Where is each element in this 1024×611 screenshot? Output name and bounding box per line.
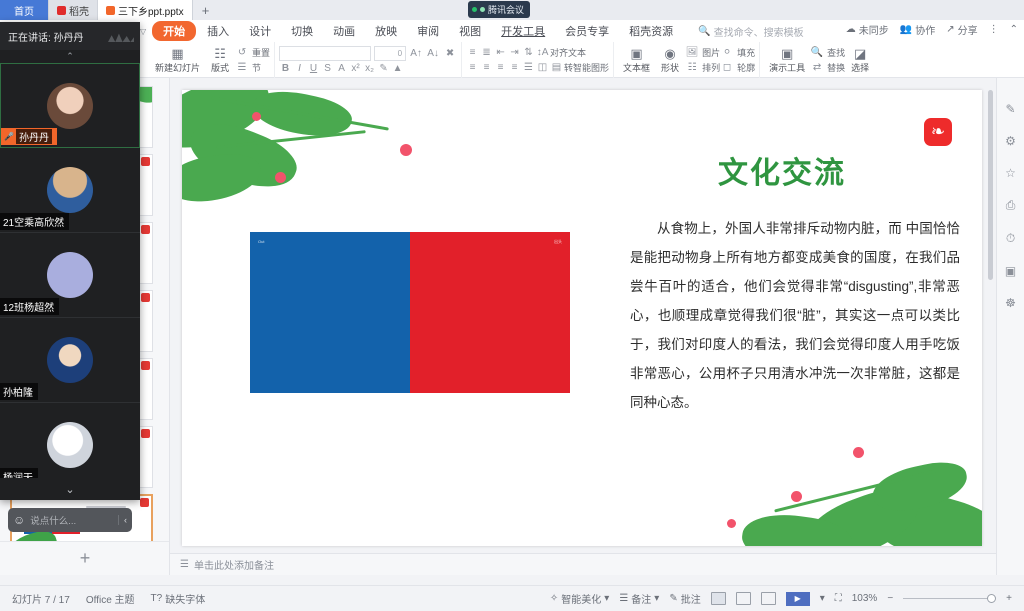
avatar [47,422,93,468]
participant-tile[interactable]: 12班杨超然 [0,233,140,318]
select-button[interactable]: ◪ 选择 [845,47,875,74]
ribbon-search[interactable]: 🔍 查找命令、搜索模板 [698,24,803,39]
slide-body-text[interactable]: 从食物上，外国人非常排斥动物内脏，而 中国恰恰是能把动物身上所有地方都变成美食的… [630,214,960,417]
note-icon: ☰ [619,593,628,604]
paragraph-row-1: ≡ ≣ ⇤ ⇥ ⇅ ↕A 对齐文本 [466,46,609,59]
replace-label: 替换 [827,61,845,74]
participant-name: 21空乘高欣然 [3,214,64,229]
copy-icon[interactable]: ⎙ [1006,198,1016,213]
align-right-button[interactable]: ≡ [494,62,507,73]
font-stack: 0 A↑ A↓ ✖ B I U S A x² x₂ ✎ ▲ [279,46,457,74]
chat-input-placeholder[interactable]: 说点什么... [30,513,113,527]
shape-icon: ◉ [664,47,675,60]
ribbon-right-actions: ☁ 未同步 👥 协作 ↗ 分享 ⋮ ⌃ [846,22,1018,37]
participant-name-chip: 21空乘高欣然 [0,213,69,230]
ribbon-tab-transition[interactable]: 切换 [282,21,322,41]
picture-icon: 🖼 [685,46,699,59]
thumbnail-logo-icon [141,293,150,302]
tab-presentation-label: 三下乡ppt.pptx [118,3,184,18]
current-speaker-bar: 正在讲话: 孙丹丹 [0,22,140,50]
participant-name-chip: 孙柏隆 [0,383,38,400]
fit-to-window-button[interactable]: ⛶ [835,593,842,604]
meeting-collapse-up-button[interactable]: ⌃ [0,50,140,63]
fill-outline-stack: ⚪ 填充 ◻ 轮廓 [720,46,755,74]
collaborate-label: 协作 [915,22,935,37]
berry-icon [853,447,864,458]
new-slide-icon: ▦ [171,47,183,60]
ribbon-collapse-caret-icon[interactable]: ▽ [140,27,146,36]
sliders-icon[interactable]: ⚙ [1005,134,1016,148]
share-label: 分享 [958,22,978,37]
ribbon-tab-row: ▽ 开始 插入 设计 切换 动画 放映 审阅 视图 开发工具 会员专享 稻壳资源… [0,20,1024,42]
section-button[interactable]: ☰ 节 [235,61,270,74]
font-format-row: B I U S A x² x₂ ✎ ▲ [279,63,457,74]
select-label: 选择 [851,61,869,74]
note-label: 备注 [631,591,651,606]
app-window: 首页 稻壳 三下乡ppt.pptx + 腾讯会议 ▽ 开始 插入 设计 切换 动… [0,0,1024,611]
group-slides: ▦ 新建幻灯片 ☷ 版式 ↺ 重置 ☰ 节 [146,42,274,78]
ribbon-tab-review[interactable]: 审阅 [408,21,448,41]
ribbon-tab-animation[interactable]: 动画 [324,21,364,41]
thumbnail-logo-icon [140,498,149,507]
image-search-icon[interactable]: ▣ [1005,264,1016,278]
view-sorter-button[interactable] [736,592,751,605]
missing-font-label: 缺失字体 [165,591,205,606]
comment-button[interactable]: ✎ 批注 [669,591,700,606]
zoom-out-button[interactable]: − [887,593,893,604]
ribbon-tab-docer-resource[interactable]: 稻壳资源 [620,21,682,41]
slideshow-options-icon[interactable]: ▾ [820,593,825,604]
image-half-red: 出头 [410,232,570,393]
avatar [47,83,93,129]
participant-name: 孙丹丹 [16,129,52,144]
reset-icon: ↺ [235,46,249,59]
bullet-list-button[interactable]: ≡ [466,47,479,58]
layout-label: 版式 [211,61,229,74]
chevron-down-icon: ▾ [654,593,659,604]
fill-button[interactable]: ⚪ 填充 [720,46,755,59]
collaborate-icon: 👥 [900,24,912,35]
align-text-label[interactable]: 对齐文本 [550,46,586,59]
theme-name[interactable]: Office 主题 [86,591,135,606]
increase-indent-button[interactable]: ⇥ [508,47,521,58]
view-normal-button[interactable] [711,592,726,605]
berry-icon [791,491,802,502]
strikethrough-button[interactable]: S [321,63,334,74]
ribbon-tab-developer[interactable]: 开发工具 [492,21,554,41]
clear-format-icon[interactable]: ✖ [443,47,457,60]
outline-label: 轮廓 [737,61,755,74]
picture-stack: 🖼 图片 ☷ 排列 [685,46,720,74]
ribbon-command-row: ▦ 新建幻灯片 ☷ 版式 ↺ 重置 ☰ 节 [0,42,1024,78]
ribbon-tab-view[interactable]: 视图 [450,21,490,41]
fill-icon: ⚪ [720,46,734,59]
tab-home-label: 首页 [14,3,34,18]
distribute-button[interactable]: ☰ [522,62,535,73]
decrease-indent-button[interactable]: ⇤ [494,47,507,58]
find-replace-stack: 🔍 查找 ⇄ 替换 [810,46,845,74]
ribbon-search-placeholder: 查找命令、搜索模板 [714,24,804,39]
layout-icon: ☷ [214,47,226,60]
participant-tile[interactable]: 21空乘高欣然 [0,148,140,233]
present-tool-label: 演示工具 [769,61,805,74]
cloud-icon: ☁ [846,24,856,35]
columns-button[interactable]: ◫ [536,62,549,73]
paragraph-row-2: ≡ ≡ ≡ ≡ ☰ ◫ ▤ 转智能图形 [466,61,609,74]
meeting-video-panel[interactable]: 正在讲话: 孙丹丹 ⌃ 🎤 孙丹丹 21空乘高欣然 12班杨超然 [0,22,140,500]
arrange-label: 排列 [702,61,720,74]
meeting-live-dot2-icon [480,7,485,12]
start-slideshow-button[interactable]: ▶ [786,592,810,606]
sync-status-button[interactable]: ☁ 未同步 [846,22,889,37]
add-slide-button[interactable]: + [0,541,170,575]
avatar [47,337,93,383]
ribbon-tab-member[interactable]: 会员专享 [556,21,618,41]
emoji-icon[interactable]: ☺ [13,513,25,527]
slide-canvas-area: ❧ 文化交流 从食物上，外国人非常排斥动物内脏，而 中国恰恰是能把动物身上所有地… [170,78,996,575]
image-caption-right: 出头 [554,239,562,245]
picture-button[interactable]: 🖼 图片 [685,46,720,59]
bold-button[interactable]: B [279,63,292,74]
numbered-list-button[interactable]: ≣ [480,47,493,58]
share-button[interactable]: ↗ 分享 [946,22,977,37]
new-slide-label: 新建幻灯片 [155,61,200,74]
participant-name: 孙柏隆 [3,384,33,399]
section-icon: ☰ [235,61,249,74]
status-left: 幻灯片 7 / 17 Office 主题 T? 缺失字体 [0,591,205,606]
berry-icon [252,112,261,121]
current-slide[interactable]: ❧ 文化交流 从食物上，外国人非常排斥动物内脏，而 中国恰恰是能把动物身上所有地… [182,90,982,546]
meeting-badge-label: 腾讯会议 [488,3,524,16]
group-font: 0 A↑ A↓ ✖ B I U S A x² x₂ ✎ ▲ [274,42,461,78]
ribbon-more-icon[interactable]: ⋮ [989,24,999,35]
zoom-level[interactable]: 103% [852,593,878,604]
group-tools: ▣ 演示工具 🔍 查找 ⇄ 替换 ◪ 选择 [759,42,879,78]
pen-icon[interactable]: ✎ [1005,102,1015,116]
canvas-vertical-scrollbar[interactable] [988,90,993,280]
superscript-button[interactable]: x² [349,63,362,74]
status-bar: 幻灯片 7 / 17 Office 主题 T? 缺失字体 ✧ 智能美化 ▾ ☰ … [0,585,1024,611]
participant-name-chip: 12班杨超然 [0,298,59,315]
berry-icon [275,172,286,183]
font-size-input[interactable]: 0 [374,46,406,61]
decrease-font-size-icon[interactable]: A↓ [426,47,440,60]
font-name-input[interactable] [279,46,371,61]
shape-label: 形状 [661,61,679,74]
ribbon: ▽ 开始 插入 设计 切换 动画 放映 审阅 视图 开发工具 会员专享 稻壳资源… [0,20,1024,78]
missing-font-icon: T? [151,593,163,604]
note-button[interactable]: ☰ 备注 ▾ [619,591,659,606]
textbox-icon: ▣ [630,47,642,60]
share-icon: ↗ [946,24,954,35]
line-spacing-button[interactable]: ⇅ [522,47,535,58]
select-icon: ◪ [854,47,866,60]
zoom-in-button[interactable]: + [1006,593,1012,604]
section-label: 节 [252,61,261,74]
pptx-file-icon [106,6,115,15]
new-tab-button[interactable]: + [193,0,219,20]
italic-button[interactable]: I [293,63,306,74]
to-smartart-label[interactable]: 转智能图形 [564,61,609,74]
textbox-button[interactable]: ▣ 文本框 [618,47,655,74]
window-tab-strip: 首页 稻壳 三下乡ppt.pptx + 腾讯会议 [0,0,1024,20]
new-slide-button[interactable]: ▦ 新建幻灯片 [150,47,205,74]
underline-button[interactable]: U [307,63,320,74]
clock-icon[interactable]: ⏱ [1006,231,1015,246]
find-label: 查找 [827,46,845,59]
present-tool-button[interactable]: ▣ 演示工具 [764,47,810,74]
star-icon[interactable]: ☆ [1005,166,1016,180]
docer-icon [57,6,66,15]
font-color-button[interactable]: ▲ [391,63,404,74]
thumbnail-logo-icon [141,157,150,166]
present-tool-icon: ▣ [781,47,793,60]
thumbnail-logo-icon [141,225,150,234]
missing-font-button[interactable]: T? 缺失字体 [151,591,206,606]
meeting-scroll-down-button[interactable]: ⌄ [0,478,140,500]
justify-button[interactable]: ≡ [508,62,521,73]
font-controls-row: 0 A↑ A↓ ✖ [279,46,457,61]
current-speaker-label: 正在讲话: 孙丹丹 [8,29,84,44]
zoom-slider-knob[interactable] [987,594,996,603]
paragraph-settings-button[interactable]: ▤ [550,62,563,73]
slide-image-pictogram[interactable]: Out 出头 [250,232,570,393]
thumbnail-logo-icon [141,361,150,370]
image-caption-left: Out [258,239,264,244]
align-left-button[interactable]: ≡ [466,62,479,73]
search-icon: 🔍 [698,26,710,37]
status-right: ✧ 智能美化 ▾ ☰ 备注 ▾ ✎ 批注 ▶ ▾ ⛶ 103% − [550,591,1024,606]
highlight-color-button[interactable]: ✎ [377,63,390,74]
reset-label: 重置 [252,46,270,59]
ribbon-tab-slideshow[interactable]: 放映 [366,21,406,41]
ribbon-tab-start[interactable]: 开始 [152,21,196,41]
slide-title[interactable]: 文化交流 [622,148,942,192]
zoom-slider[interactable] [903,594,996,603]
thumbnail-logo-icon [141,429,150,438]
picture-label: 图片 [702,46,720,59]
collaborate-button[interactable]: 👥 协作 [900,22,935,37]
paragraph-stack: ≡ ≣ ⇤ ⇥ ⇅ ↕A 对齐文本 ≡ ≡ ≡ ≡ ☰ ◫ [466,46,609,74]
reset-button[interactable]: ↺ 重置 [235,46,270,59]
meeting-status-badge[interactable]: 腾讯会议 [468,1,530,18]
slide-counter: 幻灯片 7 / 17 [12,591,70,606]
textbox-label: 文本框 [623,61,650,74]
fill-label: 填充 [737,46,755,59]
mic-icon: 🎤 [4,132,14,141]
brand-logo-icon: ❧ [924,118,952,146]
ribbon-tab-design[interactable]: 设计 [240,21,280,41]
right-icon-rail: ✎ ⚙ ☆ ⎙ ⏱ ▣ ☸ [996,78,1024,575]
find-button[interactable]: 🔍 查找 [810,46,845,59]
comment-label: 批注 [681,591,701,606]
image-half-blue: Out [250,232,410,393]
notes-icon: ☰ [180,559,189,570]
beautify-button[interactable]: ✧ 智能美化 ▾ [550,591,609,606]
settings-icon[interactable]: ☸ [1005,296,1016,310]
replace-button[interactable]: ⇄ 替换 [810,61,845,74]
berry-icon [400,144,412,156]
tab-home[interactable]: 首页 [0,0,49,20]
tab-presentation-file[interactable]: 三下乡ppt.pptx [98,0,193,20]
ribbon-tab-insert[interactable]: 插入 [198,21,238,41]
sync-status-label: 未同步 [859,22,889,37]
align-center-button[interactable]: ≡ [480,62,493,73]
beautify-label: 智能美化 [561,591,601,606]
text-direction-button[interactable]: ↕A [536,47,549,58]
reset-section-stack: ↺ 重置 ☰ 节 [235,46,270,74]
participant-name-chip: 🎤 孙丹丹 [1,128,57,145]
replace-icon: ⇄ [810,61,824,74]
beautify-icon: ✧ [550,593,558,604]
arrange-icon: ☷ [685,61,699,74]
audio-wave-icon [108,30,134,42]
participant-tile[interactable]: 🎤 孙丹丹 [0,63,140,148]
subscript-button[interactable]: x₂ [363,63,376,74]
layout-button[interactable]: ☷ 版式 [205,47,235,74]
shape-button[interactable]: ◉ 形状 [655,47,685,74]
chevron-down-icon: ▾ [604,593,609,604]
meeting-chat-bar[interactable]: ☺ 说点什么... ‹ [8,508,132,532]
outline-icon: ◻ [720,61,734,74]
text-effect-button[interactable]: A [335,63,348,74]
comment-icon: ✎ [669,593,677,604]
tab-docer[interactable]: 稻壳 [49,0,98,20]
leaf-decoration-icon [182,150,264,207]
group-paragraph: ≡ ≣ ⇤ ⇥ ⇅ ↕A 对齐文本 ≡ ≡ ≡ ≡ ☰ ◫ [461,42,613,78]
participant-name: 12班杨超然 [3,299,54,314]
view-reading-button[interactable] [761,592,776,605]
participant-tile[interactable]: 孙柏隆 [0,318,140,403]
increase-font-size-icon[interactable]: A↑ [409,47,423,60]
participant-tile[interactable]: 杨润天 [0,403,140,488]
find-icon: 🔍 [810,46,824,59]
outline-button[interactable]: ◻ 轮廓 [720,61,755,74]
group-insert: ▣ 文本框 ◉ 形状 🖼 图片 ☷ 排列 [613,42,759,78]
meeting-live-dot-icon [472,7,477,12]
chat-collapse-icon[interactable]: ‹ [118,515,127,525]
avatar [47,252,93,298]
arrange-button[interactable]: ☷ 排列 [685,61,720,74]
tab-docer-label: 稻壳 [69,3,89,18]
notes-pane[interactable]: ☰ 单击此处添加备注 [170,553,996,575]
ribbon-chevron-up-icon[interactable]: ⌃ [1010,24,1018,35]
notes-placeholder: 单击此处添加备注 [194,557,274,572]
avatar [47,167,93,213]
berry-icon [727,519,736,528]
